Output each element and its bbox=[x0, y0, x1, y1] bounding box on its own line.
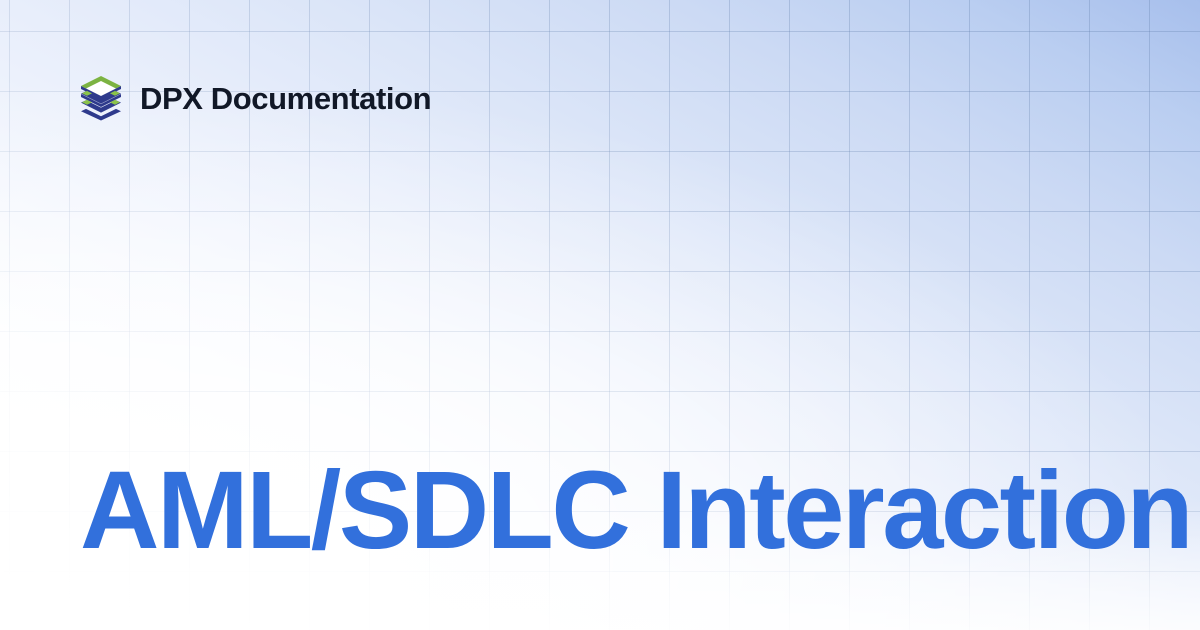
stacked-layers-icon bbox=[80, 75, 122, 121]
page-title: AML/SDLC Interaction bbox=[80, 454, 1120, 568]
brand-name: DPX Documentation bbox=[140, 83, 431, 114]
brand-lockup: DPX Documentation bbox=[80, 74, 431, 122]
og-card: DPX Documentation AML/SDLC Interaction bbox=[0, 0, 1200, 630]
